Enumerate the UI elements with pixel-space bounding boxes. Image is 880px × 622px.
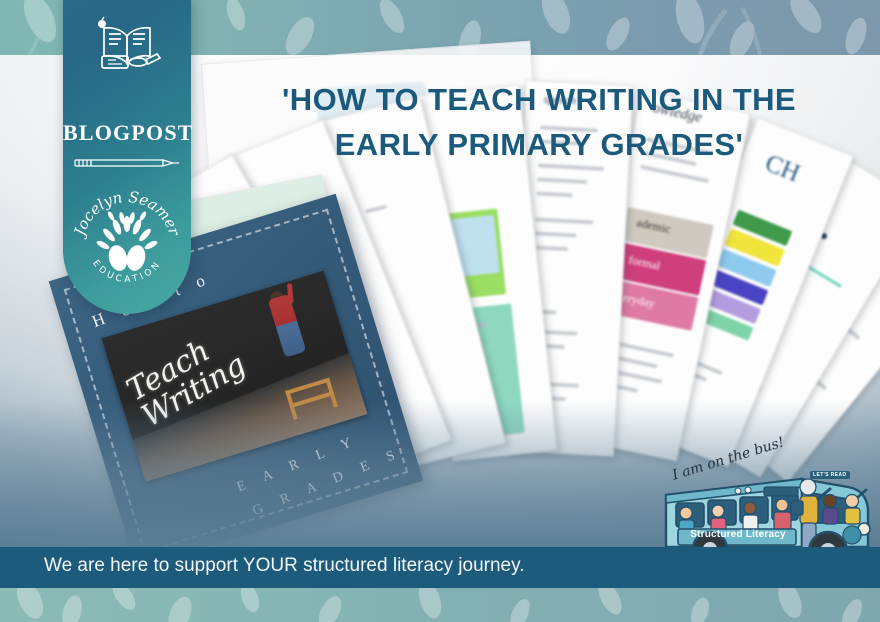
- promo-graphic-canvas: PHONEMIC SKILLS E CH: [0, 0, 880, 622]
- tagline-bar: We are here to support YOUR structured l…: [0, 547, 880, 588]
- wooden-stool-icon: [285, 378, 338, 420]
- pencil-divider-icon: [73, 156, 181, 175]
- bottom-decorative-band: [0, 588, 880, 622]
- tree-leaf-watermark-bottom-icon: [0, 588, 880, 622]
- tagline-text: We are here to support YOUR structured l…: [44, 555, 525, 577]
- page-title-line-2: EARLY PRIMARY GRADES': [214, 123, 864, 168]
- badge-label: BLOGPOST: [63, 120, 191, 146]
- page-title: 'HOW TO TEACH WRITING IN THE EARLY PRIMA…: [214, 78, 864, 168]
- tree-logo-icon: Jocelyn Seamer: [71, 180, 183, 297]
- svg-text:Jocelyn Seamer: Jocelyn Seamer: [71, 188, 183, 241]
- bus-destination-sign: LET'S READ: [810, 471, 850, 479]
- open-book-icon: [90, 16, 164, 79]
- page-title-line-1: 'HOW TO TEACH WRITING IN THE: [214, 78, 864, 123]
- blogpost-badge: BLOGPOST Jocelyn Seamer: [63, 0, 191, 314]
- bus-side-text: Structured Literacy: [682, 529, 794, 540]
